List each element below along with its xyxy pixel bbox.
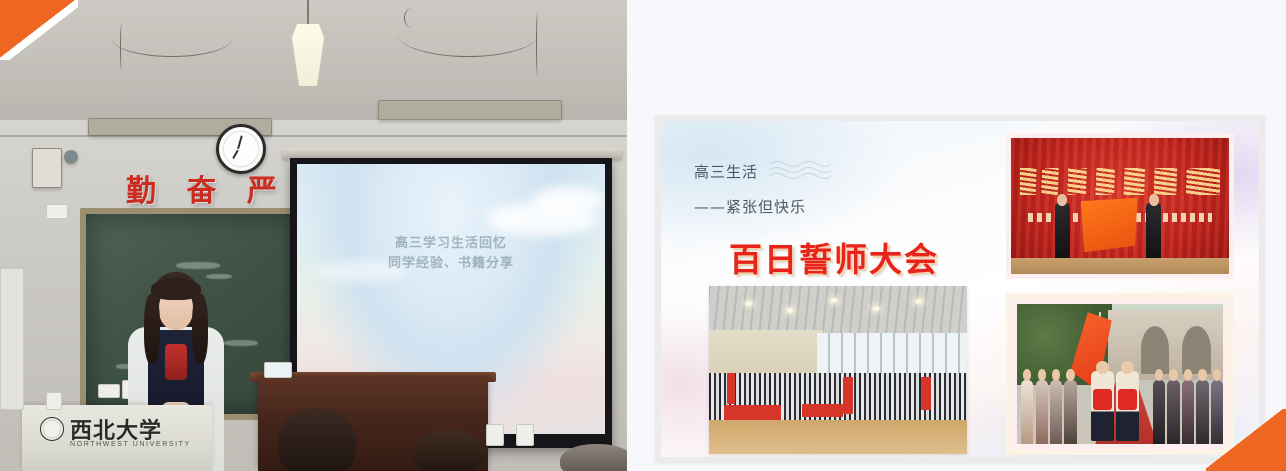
red-banner-ceremony-photo — [1011, 138, 1229, 274]
ceiling-trim-line — [0, 135, 627, 137]
ceiling-lamp-box — [378, 100, 562, 120]
presentation-slide: 高三生活 ——紧张但快乐 百日誓师大会 — [655, 115, 1265, 463]
gym-lamp — [872, 306, 880, 311]
university-seal-icon — [40, 417, 64, 441]
audience-head — [278, 408, 356, 471]
head — [1096, 361, 1109, 374]
wall-socket — [486, 424, 504, 446]
hair-right — [192, 294, 208, 364]
wall-panel — [0, 268, 24, 410]
projector-text-line-1: 高三学习生活回忆 — [297, 234, 605, 254]
flag-bearer — [1091, 371, 1114, 441]
clock-face — [222, 130, 260, 168]
flag-parade-photo — [1017, 304, 1223, 444]
gym-floor — [709, 420, 967, 454]
slide-subheading: ——紧张但快乐 — [694, 196, 806, 217]
head — [1184, 369, 1192, 381]
head — [1213, 369, 1221, 381]
wall-socket — [46, 204, 68, 219]
classroom-presentation-photo: 勤 奋 严 谨 高三学习生活回忆 同学经验、书籍分享 — [0, 0, 627, 471]
gymnasium-assembly-photo — [709, 286, 967, 454]
wave-lines-decoration — [769, 159, 831, 181]
wall-socket — [516, 424, 534, 446]
spectator — [1050, 380, 1062, 444]
flag-parade-photo-mat2 — [1006, 293, 1234, 455]
shirt — [165, 344, 187, 380]
red-scarf — [1118, 389, 1137, 410]
spectator — [1182, 380, 1194, 444]
flag-bearer — [1116, 371, 1139, 441]
spectator — [1167, 380, 1179, 444]
spectator — [1021, 380, 1033, 444]
spectator — [1196, 380, 1208, 444]
podium: 西北大学 NORTHWEST UNIVERSITY — [22, 405, 212, 471]
gym-banner — [802, 404, 843, 417]
ceremony-person-left — [1055, 203, 1070, 260]
gym-banner — [724, 405, 781, 420]
ceiling-wire — [404, 8, 421, 28]
spectator — [1064, 380, 1076, 444]
head — [1066, 369, 1074, 381]
spectator — [1211, 380, 1223, 444]
ceiling-wire — [120, 24, 123, 70]
gym-image — [709, 286, 967, 454]
projector-screen-text: 高三学习生活回忆 同学经验、书籍分享 — [297, 234, 605, 274]
ceiling-wire — [536, 12, 539, 76]
screenshot-stage: 勤 奋 严 谨 高三学习生活回忆 同学经验、书籍分享 — [0, 0, 1286, 471]
audience-head — [414, 430, 484, 471]
slide-heading: 高三生活 — [694, 161, 758, 182]
ceremony-flag — [1081, 198, 1138, 252]
gym-flag — [727, 373, 735, 403]
eraser — [98, 384, 120, 398]
chalk-mark — [176, 262, 220, 269]
slide-title: 百日誓师大会 — [729, 233, 939, 281]
spectator — [1153, 380, 1165, 444]
gym-lamp — [830, 298, 838, 303]
arch — [1182, 326, 1211, 374]
red-scarf — [1093, 389, 1112, 410]
cloud-graphic — [533, 186, 603, 214]
bangs — [151, 278, 201, 300]
head — [1169, 369, 1177, 381]
chalk-mark — [224, 340, 258, 346]
flag-parade-photo-mat — [1012, 299, 1228, 449]
ceremony-person-right — [1146, 203, 1161, 260]
red-banner-ceremony-photo-mat — [1006, 133, 1234, 279]
cup-on-podium — [46, 392, 62, 410]
ceiling-wire — [112, 20, 232, 57]
head — [1121, 361, 1134, 374]
banner-calligraphy-line1 — [1020, 168, 1221, 195]
head — [1198, 369, 1206, 381]
object-on-lectern — [264, 362, 292, 378]
pendant-light-rod — [307, 0, 309, 26]
head — [1149, 194, 1159, 205]
wall-sensor — [64, 150, 78, 164]
slide-canvas: 高三生活 ——紧张但快乐 百日誓师大会 — [661, 121, 1259, 457]
university-name-en: NORTHWEST UNIVERSITY — [70, 441, 191, 448]
projector-text-line-2: 同学经验、书籍分享 — [297, 254, 605, 274]
gym-flag — [843, 377, 853, 414]
audience-head — [560, 444, 627, 471]
gym-flag — [921, 377, 931, 411]
spectator — [1036, 380, 1048, 444]
hair-left — [144, 294, 160, 364]
stage-floor — [1011, 258, 1229, 274]
arch — [1141, 326, 1170, 374]
wall-speaker-box — [32, 148, 62, 188]
head — [1057, 194, 1067, 205]
head — [1038, 369, 1046, 381]
